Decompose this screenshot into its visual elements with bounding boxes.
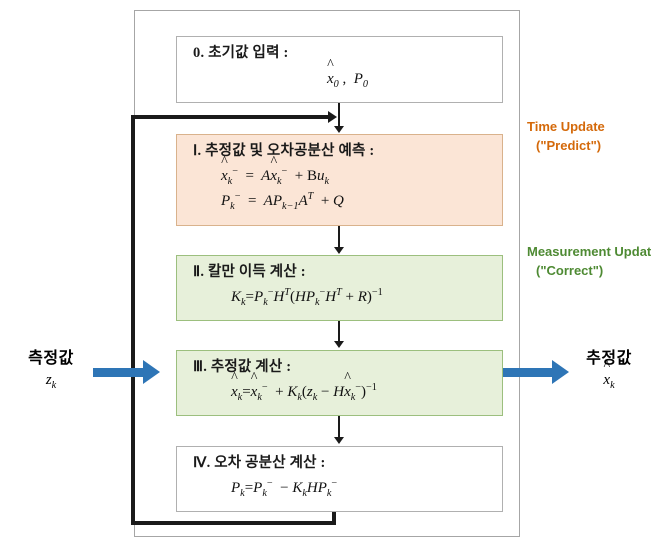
flow-arrow-3-to-4-head bbox=[334, 437, 344, 444]
process-box-step-4: Ⅳ. 오차 공분산 계산 : Pk=Pk− − KkHPk− bbox=[176, 446, 503, 512]
box-title-step-0: 0. 초기값 입력 : bbox=[193, 44, 502, 64]
box-equation-step-4-0: Pk=Pk− − KkHPk− bbox=[193, 477, 502, 502]
stage-label-measurement-update-line1: Measurement Update bbox=[527, 244, 651, 259]
measurement-input-symbol: zk bbox=[8, 369, 94, 393]
stage-label-time-update: Time Update ("Predict") bbox=[527, 118, 605, 156]
flow-arrow-0-to-1-head bbox=[334, 126, 344, 133]
process-box-step-3: Ⅲ. 추정값 계산 : x^k=x^k− + Kk(zk − Hx^k−)−1 bbox=[176, 350, 503, 416]
stage-label-measurement-update: Measurement Update ("Correct") bbox=[527, 243, 651, 281]
estimate-output-symbol: x^k bbox=[571, 369, 647, 393]
stage-label-time-update-line2: ("Predict") bbox=[527, 137, 605, 156]
flow-arrow-2-to-3-head bbox=[334, 341, 344, 348]
process-box-step-2: Ⅱ. 칼만 이득 계산 : Kk=Pk−HT(HPk−HT + R)−1 bbox=[176, 255, 503, 321]
flow-arrow-0-to-1-shaft bbox=[338, 103, 340, 128]
stage-label-time-update-line1: Time Update bbox=[527, 119, 605, 134]
box-equation-step-0-0: x^0 , P0 bbox=[193, 69, 502, 93]
process-box-step-0: 0. 초기값 입력 : x^0 , P0 bbox=[176, 36, 503, 103]
box-title-step-2: Ⅱ. 칼만 이득 계산 : bbox=[193, 263, 502, 283]
feedback-loop-arrowhead bbox=[328, 111, 337, 123]
feedback-loop-left-segment bbox=[131, 115, 135, 525]
measurement-input-label: 측정값 zk bbox=[8, 349, 94, 393]
box-title-step-4: Ⅳ. 오차 공분산 계산 : bbox=[193, 454, 502, 474]
estimate-output-arrow-shaft bbox=[503, 368, 553, 377]
estimate-output-label: 추정값 x^k bbox=[571, 349, 647, 393]
flow-arrow-1-to-2-head bbox=[334, 247, 344, 254]
flow-arrow-2-to-3-shaft bbox=[338, 321, 340, 343]
measurement-input-arrow-shaft bbox=[93, 368, 144, 377]
box-equation-step-1-1: Pk− = APk−1AT + Q bbox=[193, 190, 502, 215]
stage-label-measurement-update-line2: ("Correct") bbox=[527, 262, 651, 281]
flow-arrow-1-to-2-shaft bbox=[338, 226, 340, 249]
box-equation-step-3-0: x^k=x^k− + Kk(zk − Hx^k−)−1 bbox=[193, 381, 502, 406]
box-equation-step-1-0: x^k− = Ax^k− + Buk bbox=[193, 165, 502, 190]
feedback-loop-top-segment bbox=[131, 115, 329, 119]
estimate-output-arrow-head bbox=[552, 360, 569, 384]
flow-arrow-3-to-4-shaft bbox=[338, 416, 340, 439]
diagram-canvas: 0. 초기값 입력 : x^0 , P0 Ⅰ. 추정값 및 오차공분산 예측 :… bbox=[0, 0, 651, 545]
process-box-step-1: Ⅰ. 추정값 및 오차공분산 예측 : x^k− = Ax^k− + Buk P… bbox=[176, 134, 503, 226]
measurement-input-arrow-head bbox=[143, 360, 160, 384]
measurement-input-label-text: 측정값 bbox=[8, 349, 94, 369]
feedback-loop-bottom-segment bbox=[131, 521, 336, 525]
box-title-step-1: Ⅰ. 추정값 및 오차공분산 예측 : bbox=[193, 142, 502, 162]
box-equation-step-2-0: Kk=Pk−HT(HPk−HT + R)−1 bbox=[193, 286, 502, 311]
